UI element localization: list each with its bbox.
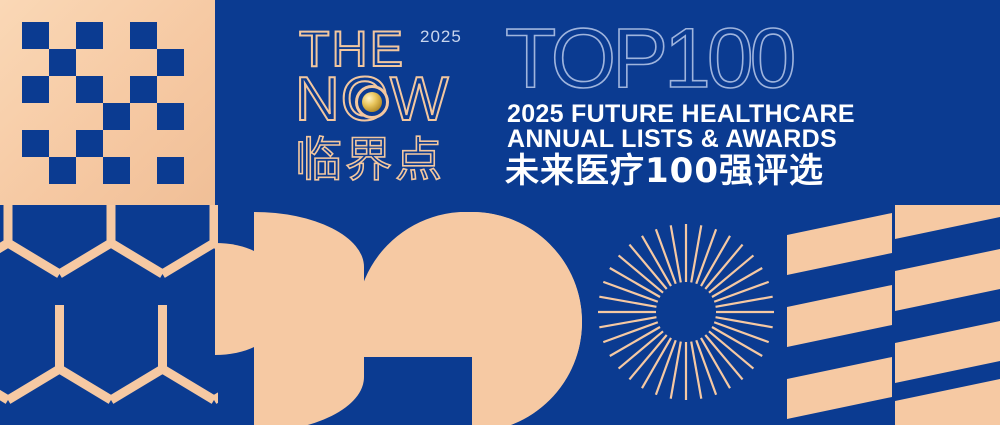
lattice-line bbox=[60, 243, 112, 274]
checker-cell bbox=[103, 22, 130, 49]
headline-top100: TOP100 bbox=[505, 16, 792, 100]
subtitle-en-line1: 2025 FUTURE HEALTHCARE bbox=[507, 101, 855, 127]
promo-banner: THE 2025 NOW 临界点 TOP100 2025 FUTURE HEAL… bbox=[0, 0, 1000, 425]
lattice-line bbox=[8, 369, 60, 400]
checker-cell bbox=[76, 103, 103, 130]
checker-cell bbox=[22, 49, 49, 76]
checker-cell bbox=[130, 76, 157, 103]
lattice-line bbox=[163, 369, 215, 400]
lattice-line bbox=[60, 369, 112, 400]
checker-cell bbox=[22, 22, 49, 49]
stripe-band bbox=[787, 213, 892, 275]
diagonal-stripes-pattern bbox=[787, 205, 1000, 425]
checker-cell bbox=[76, 130, 103, 157]
checker-cell bbox=[157, 22, 184, 49]
lattice-line bbox=[0, 369, 8, 400]
stripe-corner-fill bbox=[895, 379, 1000, 425]
subtitle-en-line2: ANNUAL LISTS & AWARDS bbox=[507, 126, 837, 152]
checker-cell bbox=[76, 49, 103, 76]
checker-cell bbox=[22, 157, 49, 184]
checker-cell bbox=[103, 157, 130, 184]
lattice-line bbox=[163, 243, 215, 274]
checker-cell bbox=[130, 49, 157, 76]
semicircle-shape bbox=[254, 212, 364, 425]
checker-cell bbox=[103, 130, 130, 157]
checker-cell bbox=[49, 22, 76, 49]
gold-orb-icon bbox=[355, 85, 389, 119]
checker-cell bbox=[130, 130, 157, 157]
notched-circle-right-half bbox=[472, 212, 582, 425]
checker-cell bbox=[130, 103, 157, 130]
stripe-band bbox=[787, 357, 892, 419]
notched-circle-shape bbox=[362, 212, 582, 425]
checker-cell bbox=[49, 130, 76, 157]
checker-cell bbox=[49, 76, 76, 103]
lattice-line bbox=[8, 243, 60, 274]
starburst-pattern bbox=[596, 222, 776, 402]
checker-cell bbox=[157, 49, 184, 76]
checker-cell bbox=[157, 130, 184, 157]
the-now-logo: THE 2025 NOW 临界点 bbox=[295, 22, 490, 192]
notched-circle-svg bbox=[362, 212, 582, 425]
stripe-band bbox=[787, 285, 892, 347]
checker-cell bbox=[157, 76, 184, 103]
checker-cell bbox=[157, 157, 184, 184]
lattice-line bbox=[111, 369, 163, 400]
checker-cell bbox=[49, 157, 76, 184]
stripe-band bbox=[895, 205, 1000, 239]
checkerboard-pattern bbox=[22, 22, 184, 184]
diagonal-stripes-svg bbox=[787, 205, 1000, 425]
stripe-band bbox=[895, 321, 1000, 383]
gold-orb-inner bbox=[362, 92, 382, 112]
logo-chinese-name: 临界点 bbox=[295, 136, 445, 186]
checker-cell bbox=[103, 49, 130, 76]
hexagon-lattice-pattern bbox=[0, 205, 218, 425]
checker-cell bbox=[103, 103, 130, 130]
lattice-line bbox=[214, 369, 218, 400]
checker-cell bbox=[22, 103, 49, 130]
logo-year-superscript: 2025 bbox=[420, 27, 462, 47]
subtitle-cn: 未来医疗100强评选 bbox=[505, 152, 824, 190]
checker-cell bbox=[49, 49, 76, 76]
starburst-svg bbox=[596, 222, 776, 402]
checker-cell bbox=[22, 130, 49, 157]
checker-cell bbox=[49, 103, 76, 130]
checker-cell bbox=[103, 76, 130, 103]
stripe-band bbox=[895, 249, 1000, 311]
checker-cell bbox=[76, 76, 103, 103]
checker-cell bbox=[157, 103, 184, 130]
title-block: TOP100 2025 FUTURE HEALTHCARE ANNUAL LIS… bbox=[505, 18, 855, 193]
checker-cell bbox=[130, 157, 157, 184]
lattice-line bbox=[0, 243, 8, 274]
checker-cell bbox=[76, 157, 103, 184]
lattice-line bbox=[111, 243, 163, 274]
hexagon-lattice-svg bbox=[0, 205, 218, 425]
checker-cell bbox=[76, 22, 103, 49]
checkerboard-panel bbox=[0, 0, 215, 205]
checker-cell bbox=[22, 76, 49, 103]
checker-cell bbox=[130, 22, 157, 49]
